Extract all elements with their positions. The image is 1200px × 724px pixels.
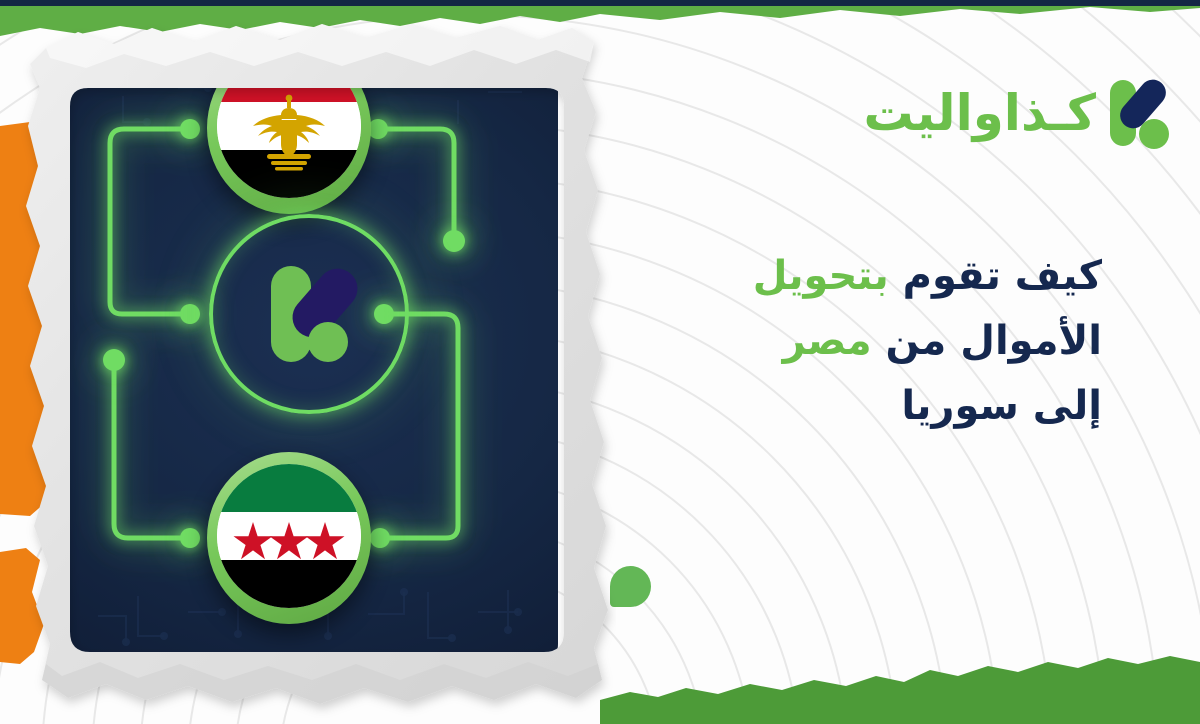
torn-paper-frame [16,8,616,718]
headline-line2-prefix: الأموال من [872,318,1102,364]
headline-line-1: كيف تقوم بتحويل [582,244,1102,309]
hero-card [16,8,616,718]
brand-lockup[interactable]: كـذاواليت [863,74,1178,152]
headline-line-3: إلى سوريا [582,374,1102,439]
headline-line2-highlight: مصر [783,318,872,364]
headline-line1-prefix: كيف تقوم [889,253,1102,299]
headline-line1-highlight: بتحويل [753,253,889,299]
headline-line3-text: إلى سوريا [901,383,1102,429]
page-headline: كيف تقوم بتحويل الأموال من مصر إلى سوريا [582,244,1102,438]
green-blob-shape [610,566,651,607]
headline-line-2: الأموال من مصر [582,309,1102,374]
brand-name: كـذاواليت [863,88,1096,138]
poster-canvas: كـذاواليت كيف تقوم بتحويل الأموال من مصر… [0,0,1200,724]
bottom-green-band [600,596,1200,724]
kathawalit-k-logo-icon [1106,74,1178,152]
